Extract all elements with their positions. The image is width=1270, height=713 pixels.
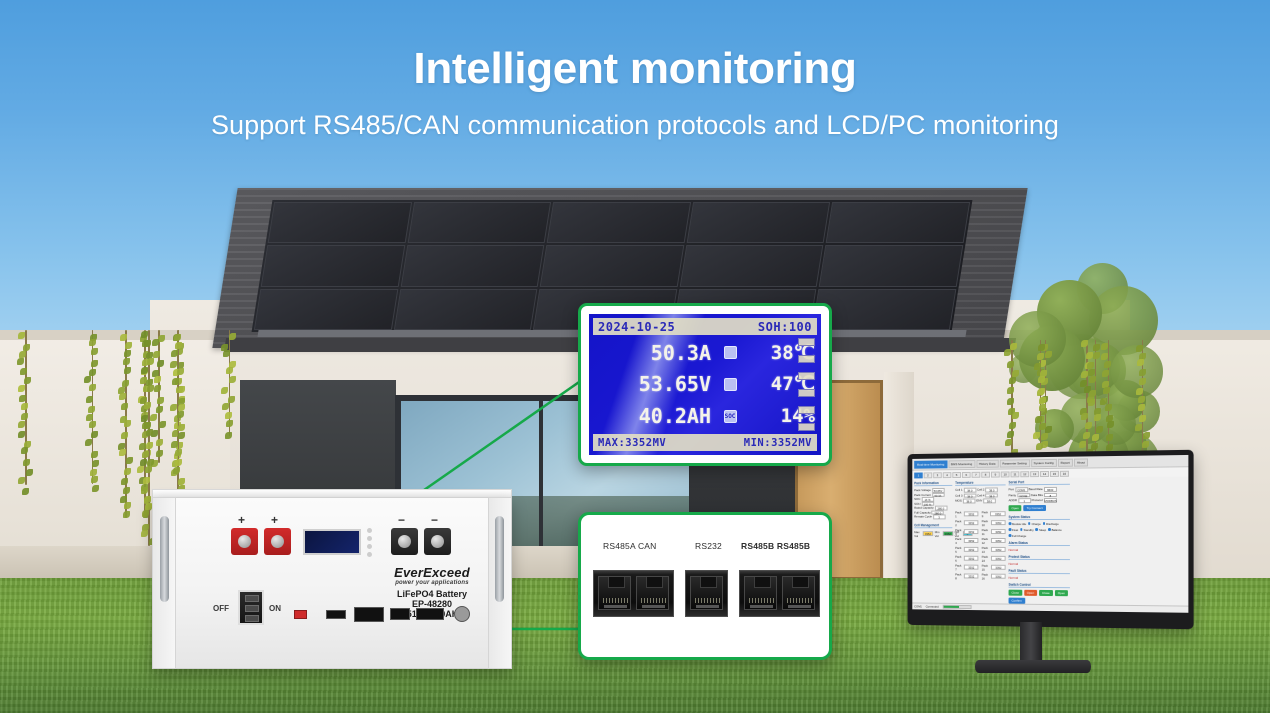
field-label: ADDR [1009,498,1017,502]
lcd-callout: 2024-10-25 SOH:100 50.3A 38℃ 53.65V 47℃ … [578,303,832,466]
field-value[interactable]: 3352 [964,574,979,579]
solar-panel-cell [680,245,824,286]
software-tab-0[interactable]: Real-time Monitoring [914,460,947,468]
onoff-knob[interactable] [454,606,470,622]
charge-icon-glyph [724,346,737,359]
field-value[interactable]: 38.0 [985,493,998,498]
section-alarm-status: Alarm Status [1009,540,1070,545]
field-row: Pack 43352 [955,537,979,545]
field-row: Cell 238.0 [977,487,998,492]
fault-status-value: Normal [1009,575,1070,579]
field-row: Remain Cycle3 [914,514,952,519]
footer-com: COM1 [914,604,922,608]
field-label: Pack 13 [982,545,991,553]
pack-button-2[interactable]: 2 [924,472,933,478]
rj45-jack-can[interactable] [636,576,669,610]
field-label: Baud Rate [1029,487,1043,491]
protect-status-value: Normal [1009,561,1070,565]
field-value[interactable]: 3352 [964,538,979,542]
poster-stage: + + − − EverExceed power your applicatio… [0,0,1270,713]
gauge-segment [798,423,815,431]
status-dot [1009,522,1011,524]
lcd-top-bar: 2024-10-25 SOH:100 [593,318,817,335]
field-label: Pack 10 [982,519,991,527]
status-flag-label: Charge [1032,522,1041,526]
field-value[interactable]: 3352 [964,520,979,524]
status-flag-0: Module Idle [1009,522,1027,526]
solar-panel-cell [261,245,405,286]
pc-monitor: Real-time MonitoringBMS MonitoringHistor… [908,450,1194,630]
solar-panel-cell [686,202,830,243]
battery-handle-left[interactable] [160,516,169,602]
software-button-open-0[interactable]: Open [1009,505,1022,511]
rj45-jack-rs485b-1[interactable] [744,576,777,610]
pack-button-7[interactable]: 7 [972,471,981,477]
status-flag-label: Float [1012,528,1018,532]
pack-button-4[interactable]: 4 [943,472,952,478]
negative-sign-2: − [431,513,438,527]
brand-name: EverExceed [352,565,512,580]
basic-info-column: Pack Information Pack Voltage53.65VPack … [914,481,952,613]
temperature-field-grid: Cell 138.0Cell 238.0Cell 338.0Cell 438.0… [955,487,1005,503]
software-tab-6[interactable]: About [1074,458,1088,466]
lcd-bottom-bar: MAX:3352MV MIN:3352MV [593,434,817,451]
software-button-confirm-4[interactable]: Confirm [1009,597,1025,603]
field-value[interactable]: 38.0 [983,498,996,503]
monitor-stand-neck [1020,622,1042,664]
field-row: Pack 23352 [955,519,979,527]
field-value[interactable]: 3352 [990,511,1005,516]
lcd-screen: 2024-10-25 SOH:100 50.3A 38℃ 53.65V 47℃ … [589,314,821,455]
field-label: Pack 9 [982,510,990,518]
field-row: Pack 53352 [955,545,979,553]
gauge-segment [798,338,815,346]
section-serial-port: Serial Port [1009,480,1070,486]
field-row: ADDR1 [1009,498,1031,503]
status-flag-label: Sleep [1039,528,1046,532]
rs232-port[interactable] [390,608,410,620]
field-row: Pack 83352 [955,572,979,580]
status-flag-4: Standby [1020,528,1034,532]
field-row: Cell 438.0 [977,493,998,498]
page-subtitle: Support RS485/CAN communication protocol… [0,110,1270,141]
field-value[interactable]: 38.0 [963,499,976,504]
section-cell-management: Cell Management [914,523,952,528]
rj45-jack-rs232[interactable] [690,576,723,610]
status-flag-1: Charge [1028,522,1041,526]
field-value[interactable]: 3352 [964,547,979,551]
field-label: Data Bits [1031,493,1043,497]
pack-button-6[interactable]: 6 [962,471,971,477]
field-row: Max Vol3352 [914,530,933,538]
power-rocker-switch[interactable] [238,590,264,625]
field-label: ENV [976,499,982,503]
monitor-stand-base [975,660,1091,673]
field-row: Pack 63352 [955,554,979,562]
alarm-status-value: Normal [1009,547,1070,551]
foliage-blob [1009,311,1065,367]
field-label: MOS [955,499,962,503]
lcd-capacity-value: 40.2AH [599,404,711,428]
jack-pins [642,605,665,608]
field-label: Pack 2 [955,519,963,527]
battery-chemistry: LiFePO4 Battery [352,589,512,599]
field-label: Pack 1 [955,510,963,518]
field-value[interactable]: 3352 [991,574,1005,579]
pack-button-9[interactable]: 9 [991,471,1000,477]
reset-button[interactable] [294,610,307,619]
lcd-row-voltage: 53.65V 47℃ [599,372,815,396]
status-dot [1009,534,1011,536]
lcd-voltage-value: 53.65V [599,372,711,396]
software-body: Pack Information Pack Voltage53.65VPack … [912,476,1188,612]
footer-progress-bar [942,605,971,609]
section-protect-status: Protect Status [1009,554,1070,559]
field-label: Pack 16 [982,572,991,580]
status-flag-label: Full Charge [1012,534,1026,538]
progress-fill [943,606,959,608]
field-row: ParityNONE [1009,493,1030,498]
jack-pins [696,605,719,608]
software-button-close-0[interactable]: Close [1009,589,1022,595]
positive-sign-2: + [271,513,278,527]
field-value[interactable]: 3352 [964,529,979,533]
status-dot [1028,522,1030,524]
field-label: Cell 2 [977,488,984,492]
pack-button-14[interactable]: 14 [1040,470,1049,476]
field-value[interactable]: 38.0 [985,487,998,492]
port-label-rs232: RS232 [695,541,722,551]
field-row: Cell 338.0 [955,493,976,498]
cell-summary-row: Max Vol3352Min Vol3352Diff Vol0 [914,530,952,538]
basic-field-list: Pack Voltage53.65VPack Current50.3ASOC14… [914,488,952,519]
field-value[interactable]: 3352 [991,538,1005,542]
software-button-open-3[interactable]: Open [1055,590,1068,596]
lcd-soc-gauge [798,338,815,431]
field-value[interactable]: MODBUS [1044,498,1057,503]
monitoring-software-screen: Real-time MonitoringBMS MonitoringHistor… [912,455,1188,613]
pack-button-13[interactable]: 13 [1030,471,1039,477]
pack-button-5[interactable]: 5 [952,472,961,478]
solar-panel-cell [812,289,956,330]
dry-contact-port[interactable] [326,610,346,619]
positive-sign-1: + [238,513,245,527]
field-row: Pack 123352 [982,537,1006,545]
field-label: Protocol [1032,498,1043,502]
foliage-blob [1111,345,1164,398]
section-fault-status: Fault Status [1009,568,1070,573]
lcd-current-value: 50.3A [599,341,711,365]
rs485a-can-group[interactable] [593,570,674,617]
field-value[interactable]: 3352 [991,565,1005,570]
field-label: Port [1009,488,1014,492]
rocker-top [245,595,259,602]
terminal-nut [238,535,251,548]
soc-icon-glyph: SOC [724,410,737,423]
status-flag-label: Module Idle [1012,522,1026,526]
field-label: Pack 6 [955,554,963,562]
negative-terminal-1[interactable] [391,528,418,555]
pack-button-1[interactable]: 1 [914,472,923,478]
brand-tagline: power your applications [352,580,512,586]
field-row: Pack 113352 [982,528,1006,536]
soc-icon: SOC [723,409,738,424]
field-row: Min Vol3352 [935,530,953,538]
field-label: SOC [914,497,920,501]
software-tab-4[interactable]: System Config [1031,458,1057,466]
pack-button-10[interactable]: 10 [1001,471,1010,477]
lcd-soh: SOH:100 [758,320,812,334]
lcd-min-cell: MIN:3352MV [744,437,812,449]
foliage-blob [1035,409,1074,448]
field-label: Remain Cycle [914,515,932,519]
lcd-date: 2024-10-25 [598,320,675,334]
field-value[interactable]: 38.0 [964,493,977,498]
terminal-nut [398,535,411,548]
field-label: Pack 5 [955,545,963,553]
field-label: Pack 11 [982,528,990,536]
field-value[interactable]: 3352 [991,520,1005,525]
field-row: Pack 93352 [982,510,1006,518]
lcd-max-cell: MAX:3352MV [598,437,666,449]
status-flag-3: Float [1009,528,1019,532]
status-dot [1009,528,1011,530]
field-label: Pack 14 [982,554,991,562]
solar-panel-cell [268,202,412,243]
ports-callout: RS485A CAN RS232 RS485B RS485B [578,512,832,660]
negative-sign-1: − [398,513,405,527]
pack-button-12[interactable]: 12 [1020,471,1029,477]
gauge-segment [798,355,815,363]
pack-button-8[interactable]: 8 [981,471,990,477]
foliage-blob [1095,404,1136,445]
field-value[interactable]: 3352 [943,531,953,535]
solar-panel-cell [826,202,970,243]
section-switch-control: Switch Control [1009,582,1070,587]
field-row: Pack 73352 [955,563,979,571]
status-flag-label: Balance [1052,527,1062,531]
field-value[interactable]: 3352 [991,547,1005,551]
gauge-segment [798,406,815,414]
field-value[interactable]: 1 [1018,498,1031,503]
jack-pins [788,605,811,608]
field-label: Parity [1009,493,1017,497]
field-label: Cell 1 [955,488,962,492]
software-button-close-2[interactable]: Close [1039,589,1053,595]
software-button-open-1[interactable]: Open [1024,589,1037,595]
field-row: ProtocolMODBUS [1032,498,1057,503]
lcd-value-rows: 50.3A 38℃ 53.65V 47℃ 40.2AH SOC 14% [589,337,821,432]
field-label: Pack 12 [982,537,991,545]
status-flag-7: Full Charge [1009,534,1027,538]
pack-button-3[interactable]: 3 [933,472,942,478]
field-value[interactable]: 3352 [964,556,979,560]
port-label-rs485a-can: RS485A CAN [603,541,657,551]
field-value[interactable]: COM1 [1015,487,1028,492]
status-dot [1043,522,1045,525]
led-protect [367,544,372,549]
status-flag-6: Balance [1048,527,1062,531]
status-dot [1048,528,1050,531]
charge-icon [723,345,738,360]
cell-column-left: Pack 13352Pack 23352Pack 33352Pack 43352… [955,510,979,580]
rj45-jack-rs485b-2[interactable] [782,576,815,610]
field-value[interactable]: 3352 [964,512,979,517]
solar-panel-cell [254,289,398,330]
rj45-jack-rs485a[interactable] [598,576,631,610]
field-row: Pack 103352 [982,519,1006,527]
right-panel-column: Serial Port PortCOM1Baud Rate9600ParityN… [1009,480,1070,613]
led-soc [367,552,372,557]
status-led-column [367,528,383,558]
field-value[interactable]: 9600 [1044,487,1057,492]
field-label: Pack 8 [955,572,963,580]
footer-status: Connected [926,605,939,609]
jack-pins [750,605,773,608]
port-jack-row [593,570,820,617]
temperature-port[interactable] [416,608,444,620]
software-tab-3[interactable]: Parameter Setting [999,459,1029,467]
status-flag-5: Sleep [1036,528,1047,532]
pack-button-16[interactable]: 16 [1060,470,1069,476]
led-alarm [367,536,372,541]
software-tab-1[interactable]: BMS Monitoring [948,460,975,468]
field-label: Max Vol [914,530,922,538]
software-tab-2[interactable]: History Data [976,459,998,467]
field-label: Full Capacity [914,510,930,514]
status-flag-label: Discharge [1046,521,1059,525]
field-value[interactable]: NONE [1017,493,1030,498]
solar-panel-cell [819,245,963,286]
battery-icon [723,377,738,392]
solar-panel-cell [540,245,684,286]
field-row: Pack 13352 [955,510,979,518]
status-dot [1036,528,1038,530]
field-label: Pack 7 [955,563,963,571]
positive-terminal-1[interactable] [231,528,258,555]
rs232-group[interactable] [685,570,728,617]
field-label: SOH [914,502,920,506]
field-row: Baud Rate9600 [1029,487,1057,492]
terminal-nut [431,535,444,548]
terminal-nut [271,535,284,548]
status-dot [1020,528,1022,530]
switch-off-label: OFF [213,604,229,613]
field-row: Pack 143352 [982,554,1006,562]
system-status-flags: Module IdleChargeDischargeFloatStandbySl… [1009,521,1070,537]
field-value[interactable]: 38.0 [964,488,977,493]
solar-panel-cell [400,245,544,286]
lcd-row-capacity: 40.2AH SOC 14% [599,404,815,428]
field-label: Pack 3 [955,528,963,536]
section-pack-information: Pack Information [914,481,952,486]
solar-panel-cell [547,202,691,243]
temperature-column: Temperature Cell 138.0Cell 238.0Cell 338… [955,480,1005,612]
pack-button-11[interactable]: 11 [1011,471,1020,477]
field-label: Pack 4 [955,537,963,545]
gauge-segment [798,389,815,397]
solar-panel-cell [407,202,551,243]
field-value[interactable]: 3 [933,514,945,518]
field-value[interactable]: 3352 [991,556,1005,561]
rs485b-group[interactable] [739,570,820,617]
switch-control-buttons: CloseOpenCloseOpenConfirm [1009,589,1070,604]
battery-front-lcd[interactable] [303,529,361,555]
field-label: Cell 3 [955,493,962,497]
port-label-rs485b: RS485B RS485B [741,541,810,551]
rocker-mid [245,605,259,612]
section-system-status: System Status [1009,514,1070,519]
software-tab-5[interactable]: Report [1058,458,1073,466]
lcd-row-current: 50.3A 38℃ [599,341,815,365]
field-row: Pack 33352 [955,528,979,536]
field-row: Pack 163352 [982,572,1006,580]
cell-voltage-grid: Pack 13352Pack 23352Pack 33352Pack 43352… [955,510,1005,580]
field-row: Pack 153352 [982,563,1006,571]
field-label: Pack 15 [982,563,991,571]
software-button-try connect-1[interactable]: Try Connect [1024,505,1046,511]
positive-terminal-2[interactable] [264,528,291,555]
field-row: MOS38.0 [955,499,975,504]
led-run [367,528,372,533]
battery-io-row [286,600,476,630]
field-row: PortCOM1 [1009,487,1028,492]
left-wall-cap [0,330,232,340]
serial-button-row: OpenTry Connect [1009,504,1070,510]
parallel-link-port[interactable] [354,607,384,622]
solar-panel-cell [393,289,537,330]
field-row: Pack 133352 [982,545,1006,553]
pack-button-15[interactable]: 15 [1050,470,1059,476]
field-value[interactable]: 3352 [991,529,1005,533]
field-row: Cell 138.0 [955,488,976,493]
serial-field-grid: PortCOM1Baud Rate9600ParityNONEData Bits… [1009,487,1070,503]
gauge-segment [798,372,815,380]
field-value[interactable]: 3352 [964,565,979,570]
battery-icon-glyph [724,378,737,391]
jack-pins [604,605,627,608]
section-temperature: Temperature [955,480,1005,485]
status-flag-2: Discharge [1043,521,1059,525]
status-flag-label: Standby [1023,528,1033,532]
field-label: Cell 4 [977,493,984,497]
page-title: Intelligent monitoring [0,44,1270,94]
field-label: Min Vol [935,530,942,538]
switch-on-label: ON [269,604,281,613]
field-row: Data Bits8 [1031,492,1057,497]
negative-terminal-2[interactable] [424,528,451,555]
field-row: ENV38.0 [976,498,996,503]
field-value[interactable]: 3352 [923,531,933,535]
rocker-bottom [245,615,259,622]
field-value[interactable]: 8 [1044,492,1057,497]
cell-column-right: Pack 93352Pack 103352Pack 113352Pack 123… [982,510,1006,580]
